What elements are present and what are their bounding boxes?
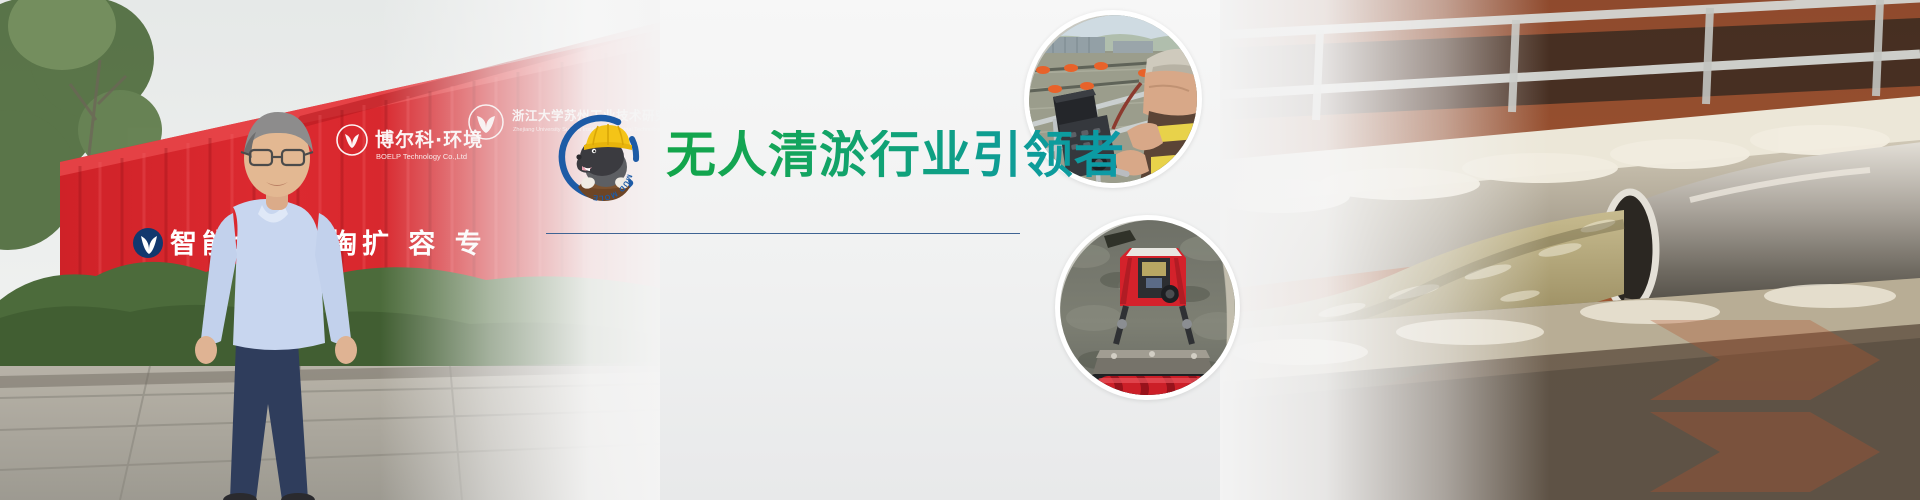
svg-text:博尔科·环境: 博尔科·环境 bbox=[375, 128, 483, 151]
headline-text: 无人清淤行业引领者 bbox=[666, 130, 1125, 184]
logo-ring-accent bbox=[632, 139, 636, 159]
right-photo-sludge-pipe bbox=[1220, 0, 1920, 500]
headline-divider bbox=[546, 233, 1020, 234]
svg-text:BOELP Technology Co.,Ltd: BOELP Technology Co.,Ltd bbox=[376, 152, 467, 161]
hero-banner: 博尔科·环境 BOELP Technology Co.,Ltd 浙江大学苏州工业… bbox=[0, 0, 1920, 500]
center-content: MUD MOLE 无人清淤行业引领者 bbox=[556, 103, 1076, 278]
circle-photo-dredging-robot bbox=[1055, 215, 1240, 400]
mud-mole-logo: MUD MOLE bbox=[556, 109, 652, 205]
